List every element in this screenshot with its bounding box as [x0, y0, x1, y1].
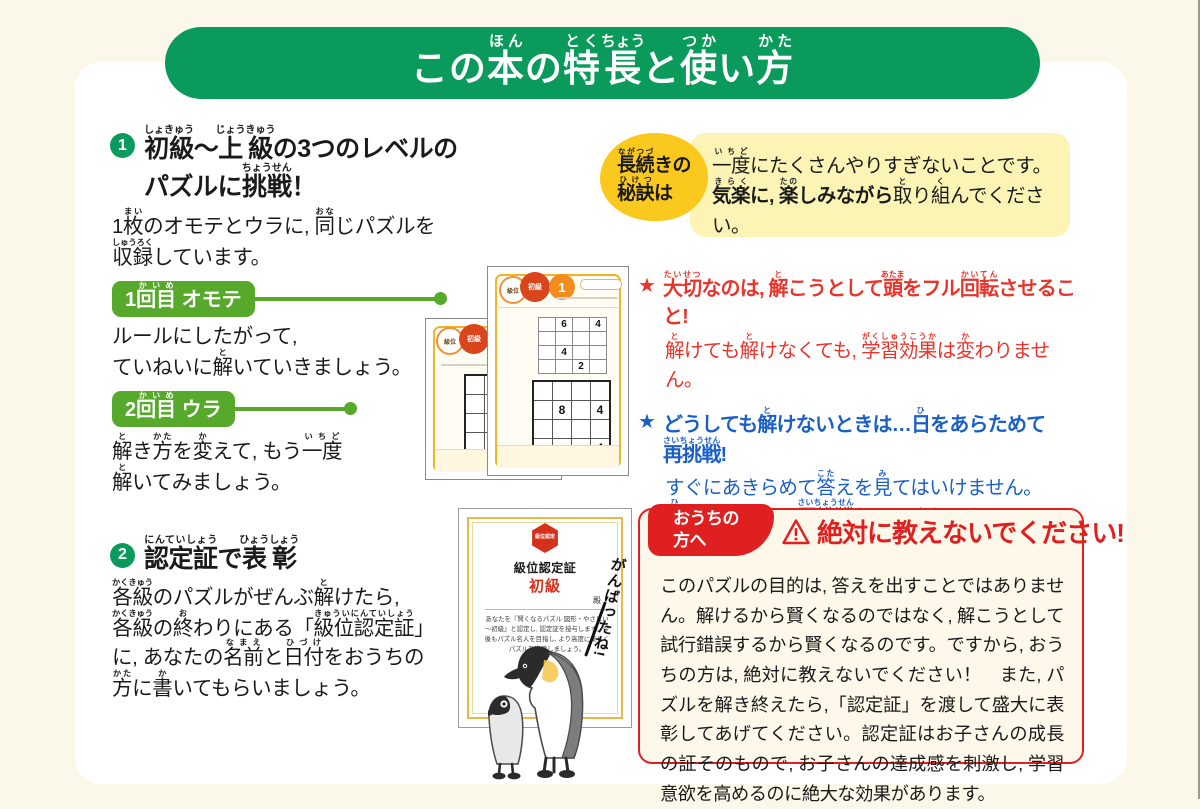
grid-cell: 4 [591, 401, 609, 419]
grid-cell [573, 318, 589, 331]
parents-notice-tab: おうちの方へ [648, 504, 774, 556]
grid-cell [556, 332, 572, 345]
grid-cell: 8 [553, 401, 571, 419]
section-1-number: 1 [110, 133, 135, 158]
section-2-header: 2 認定証にんていしょうで表彰ひょうしょう [110, 535, 510, 576]
star-icon: ★ [638, 272, 656, 300]
badge-second-round-back: 2回目かいめ ウラ [112, 391, 235, 427]
page-root: この本ほんの特とく長ちょうと使つかい方かた 1 初級しょきゅう～上級じょうきゅう… [0, 0, 1200, 799]
grid-cell [466, 414, 484, 432]
grid-cell [534, 382, 552, 400]
grid-cell [573, 332, 589, 345]
star-note-blue-headline: ★ どうしても解とけないときは…日ひをあらためて再挑戦さいちょうせん! [638, 406, 1078, 469]
leader-line-1 [255, 297, 435, 301]
leader-dot-1 [434, 292, 447, 305]
bubble-message: 一度いちどにたくさんやりすぎないことです。 気楽きらくに, 楽たのしみながら取と… [712, 147, 1068, 242]
grid-cell: 6 [556, 318, 572, 331]
page-title: この本ほんの特とく長ちょうと使つかい方かた [411, 34, 794, 92]
star-note-red-headline: ★ 大切たいせつなのは, 解とこうとして頭あたまをフル回転かいてんさせること! [638, 270, 1078, 332]
puzzle-sheet-front: 級位 初級 1 6 4 4 2 [487, 266, 629, 476]
section-2-body: 各級かくきゅうのパズルがぜんぶ解とけたら, 各級かくきゅうの終おわりにある「級位… [112, 578, 510, 703]
star-icon: ★ [638, 408, 656, 436]
grid-cell [590, 346, 606, 359]
grid-cell [534, 401, 552, 419]
grid-cell [556, 360, 572, 373]
tip-speech-bubble: 長続ながつづきの秘訣ひけつは 一度いちどにたくさんやりすぎないことです。 気楽き… [600, 133, 1070, 245]
grid-cell [466, 395, 484, 413]
sheet-front-example-grid: 6 4 4 2 [538, 317, 607, 374]
star-note-red: ★ 大切たいせつなのは, 解とこうとして頭あたまをフル回転かいてんさせること! … [638, 270, 1078, 395]
parents-notice-tab-label: おうちの方へ [673, 508, 749, 552]
grid-cell [572, 401, 590, 419]
badge-first-round-front: 1回目かいめ オモテ [112, 281, 255, 317]
grid-cell [590, 360, 606, 373]
warning-triangle-icon [782, 518, 810, 546]
page-header-banner: この本ほんの特とく長ちょうと使つかい方かた [165, 27, 1040, 99]
leader-dot-2 [344, 402, 357, 415]
certificate-name-rule [485, 609, 605, 610]
parents-notice-body: このパズルの目的は, 答えを出すことではありません。解けるから賢くなるのではなく… [660, 572, 1064, 809]
star-note-blue-head: どうしても解とけないときは…日ひをあらためて再挑戦さいちょうせん! [663, 406, 1078, 469]
grid-cell [590, 332, 606, 345]
grid-cell [573, 346, 589, 359]
sheet-front-chip-grade: 初級 [520, 272, 550, 302]
grid-cell [534, 420, 552, 438]
section-2: 2 認定証にんていしょうで表彰ひょうしょう 各級かくきゅうのパズルがぜんぶ解とけ… [110, 535, 510, 704]
section-1-title: 初級しょきゅう～上級じょうきゅうの3つのレベルの パズルに挑戦ちょうせん！ [144, 125, 458, 204]
sheet-front-topline [496, 307, 620, 308]
grid-cell: 4 [590, 318, 606, 331]
sheet-front-rule-strip [497, 445, 619, 468]
sheet-front-fakeline-1 [556, 297, 618, 299]
grid-cell: 4 [556, 346, 572, 359]
parents-notice-heading: 絶対に教えないでください! [782, 513, 1124, 550]
star-note-red-head: 大切たいせつなのは, 解とこうとして頭あたまをフル回転かいてんさせること! [663, 270, 1078, 332]
grid-cell [539, 346, 555, 359]
section-1-header: 1 初級しょきゅう～上級じょうきゅうの3つのレベルの パズルに挑戦ちょうせん！ [110, 125, 510, 204]
grid-cell [539, 360, 555, 373]
section-2-number: 2 [110, 543, 135, 568]
grid-cell [466, 376, 484, 394]
penguin-illustration [488, 630, 638, 790]
sheet-back-chip-grade: 初級 [459, 324, 489, 354]
section-2-title: 認定証にんていしょうで表彰ひょうしょう [144, 535, 299, 576]
pill-row-1: 1回目かいめ オモテ [112, 281, 510, 317]
sheet-front-headerbar [580, 279, 622, 290]
section-1-body: 1枚まいのオモテとウラに, 同おなじパズルを 収録しゅうろくしています。 [112, 207, 510, 272]
grid-cell [539, 332, 555, 345]
parents-notice-heading-text: 絶対に教えないでください! [817, 513, 1124, 550]
grid-cell [553, 420, 571, 438]
grid-cell [591, 382, 609, 400]
bubble-badge-label: 長続ながつづきの秘訣ひけつは [617, 147, 691, 207]
grid-cell [572, 382, 590, 400]
leader-line-2 [235, 407, 345, 411]
penguin-chick [488, 696, 523, 779]
grid-cell: 2 [573, 360, 589, 373]
grid-cell [539, 318, 555, 331]
star-note-red-sub: 解とけても解とけなくても, 学習効果がくしゅうこうかは変かわりません。 [665, 332, 1078, 395]
bubble-badge: 長続ながつづきの秘訣ひけつは [600, 133, 708, 221]
grid-cell [591, 420, 609, 438]
grid-cell [572, 420, 590, 438]
grid-cell [553, 382, 571, 400]
